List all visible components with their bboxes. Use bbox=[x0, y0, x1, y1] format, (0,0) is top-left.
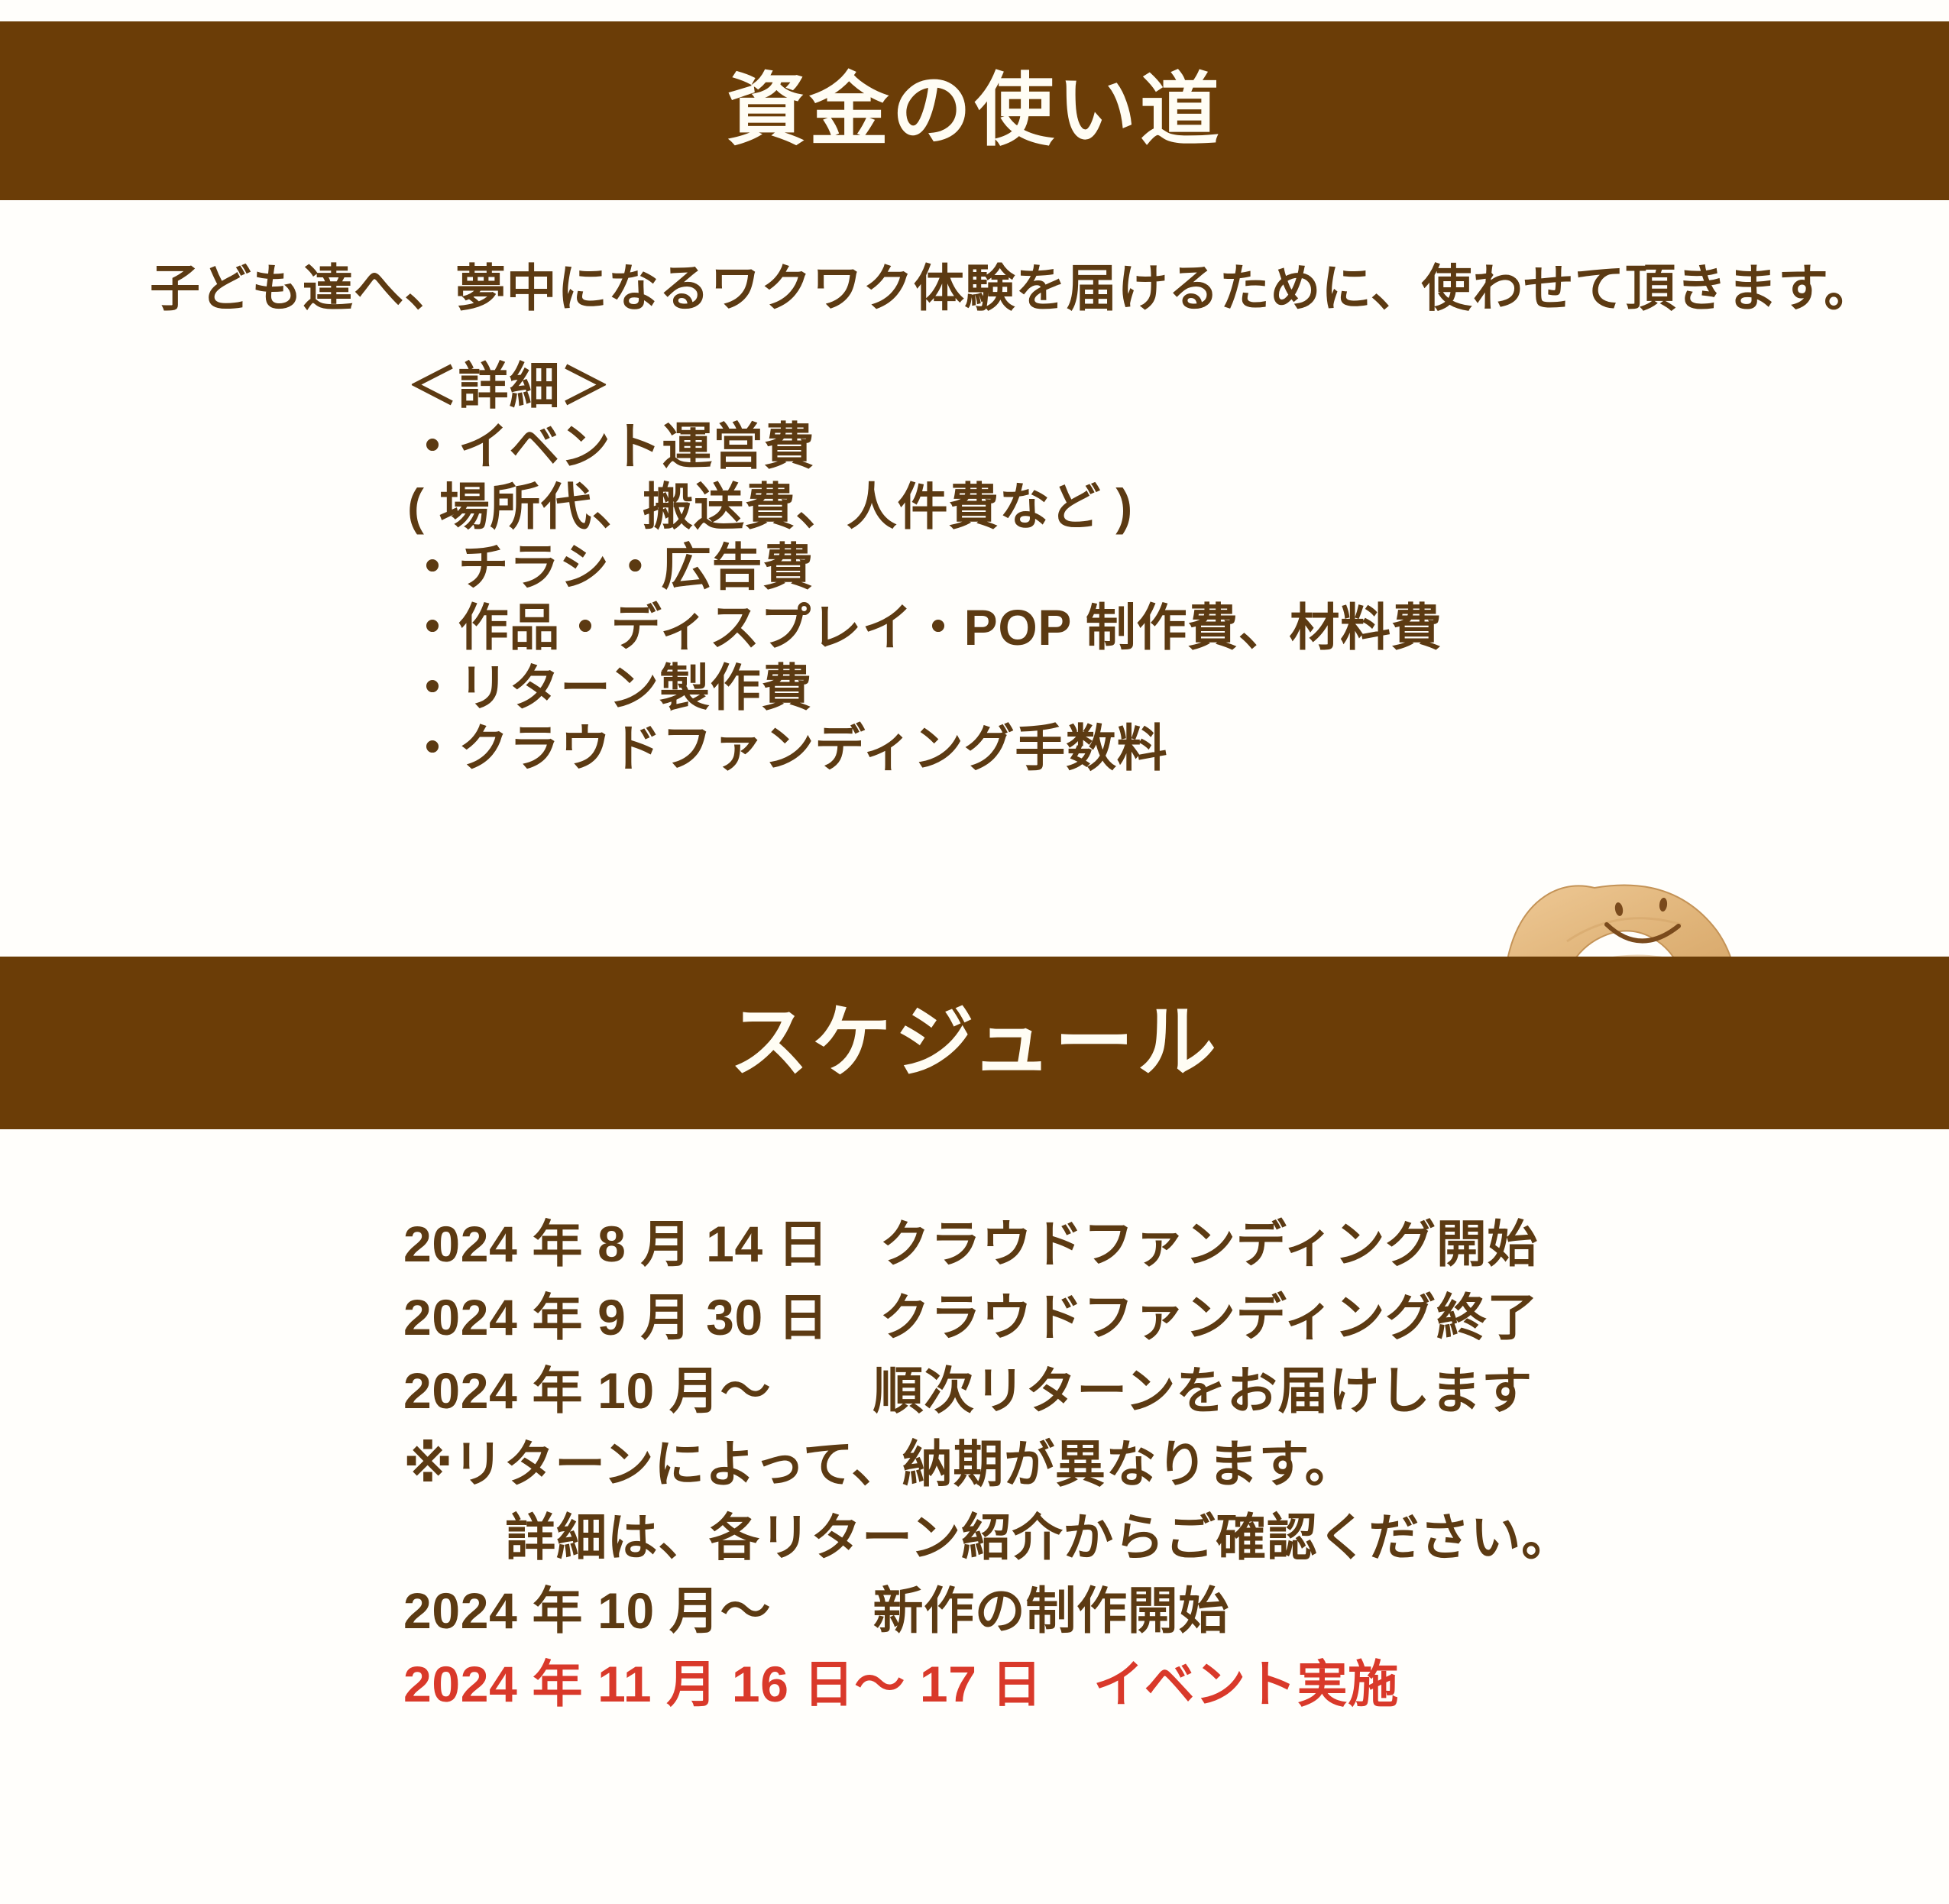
detail-list-item: ・リターン製作費 bbox=[407, 658, 1442, 718]
detail-list-item: ・作品・ディスプレイ・POP 制作費、材料費 bbox=[407, 597, 1442, 658]
funds-header-band: 資金の使い道 bbox=[0, 21, 1949, 200]
schedule-list-item: 2024 年 10 月〜 順次リターンをお届けします bbox=[403, 1354, 1572, 1427]
schedule-list-item: 2024 年 9 月 30 日 クラウドファンディング終了 bbox=[403, 1281, 1572, 1354]
schedule-note-item: ※リターンによって、納期が異なります。 bbox=[403, 1427, 1572, 1501]
funds-detail-list: ＜詳細＞ ・イベント運営費 ( 場所代、搬送費、人件費など ) ・チラシ・広告費… bbox=[407, 356, 1442, 779]
schedule-section: 2024 年 8 月 14 日 クラウドファンディング開始 2024 年 9 月… bbox=[0, 1129, 1949, 1904]
detail-list-item: ・イベント運営費 bbox=[407, 416, 1442, 477]
detail-list-item: ・チラシ・広告費 bbox=[407, 537, 1442, 597]
detail-list-item: ＜詳細＞ bbox=[407, 356, 1442, 416]
schedule-list-item: 2024 年 10 月〜 新作の制作開始 bbox=[403, 1574, 1572, 1647]
schedule-list-item: 2024 年 8 月 14 日 クラウドファンディング開始 bbox=[403, 1207, 1572, 1281]
schedule-header-band: スケジュール bbox=[0, 957, 1949, 1129]
schedule-event-item: 2024 年 11 月 16 日〜 17 日 イベント実施 bbox=[403, 1647, 1572, 1721]
funds-section: 子ども達へ、夢中になるワクワク体験を届けるために、使わせて頂きます。 ＜詳細＞ … bbox=[0, 200, 1949, 957]
schedule-note-item: 詳細は、各リターン紹介からご確認ください。 bbox=[403, 1501, 1572, 1574]
funds-header-title: 資金の使い道 bbox=[727, 71, 1222, 151]
detail-list-item: ( 場所代、搬送費、人件費など ) bbox=[407, 477, 1442, 537]
detail-list-item: ・クラウドファンディング手数料 bbox=[407, 718, 1442, 779]
schedule-header-title: スケジュール bbox=[730, 1003, 1220, 1083]
schedule-list: 2024 年 8 月 14 日 クラウドファンディング開始 2024 年 9 月… bbox=[403, 1207, 1572, 1721]
funds-lead-text: 子ども達へ、夢中になるワクワク体験を届けるために、使わせて頂きます。 bbox=[150, 248, 1875, 321]
